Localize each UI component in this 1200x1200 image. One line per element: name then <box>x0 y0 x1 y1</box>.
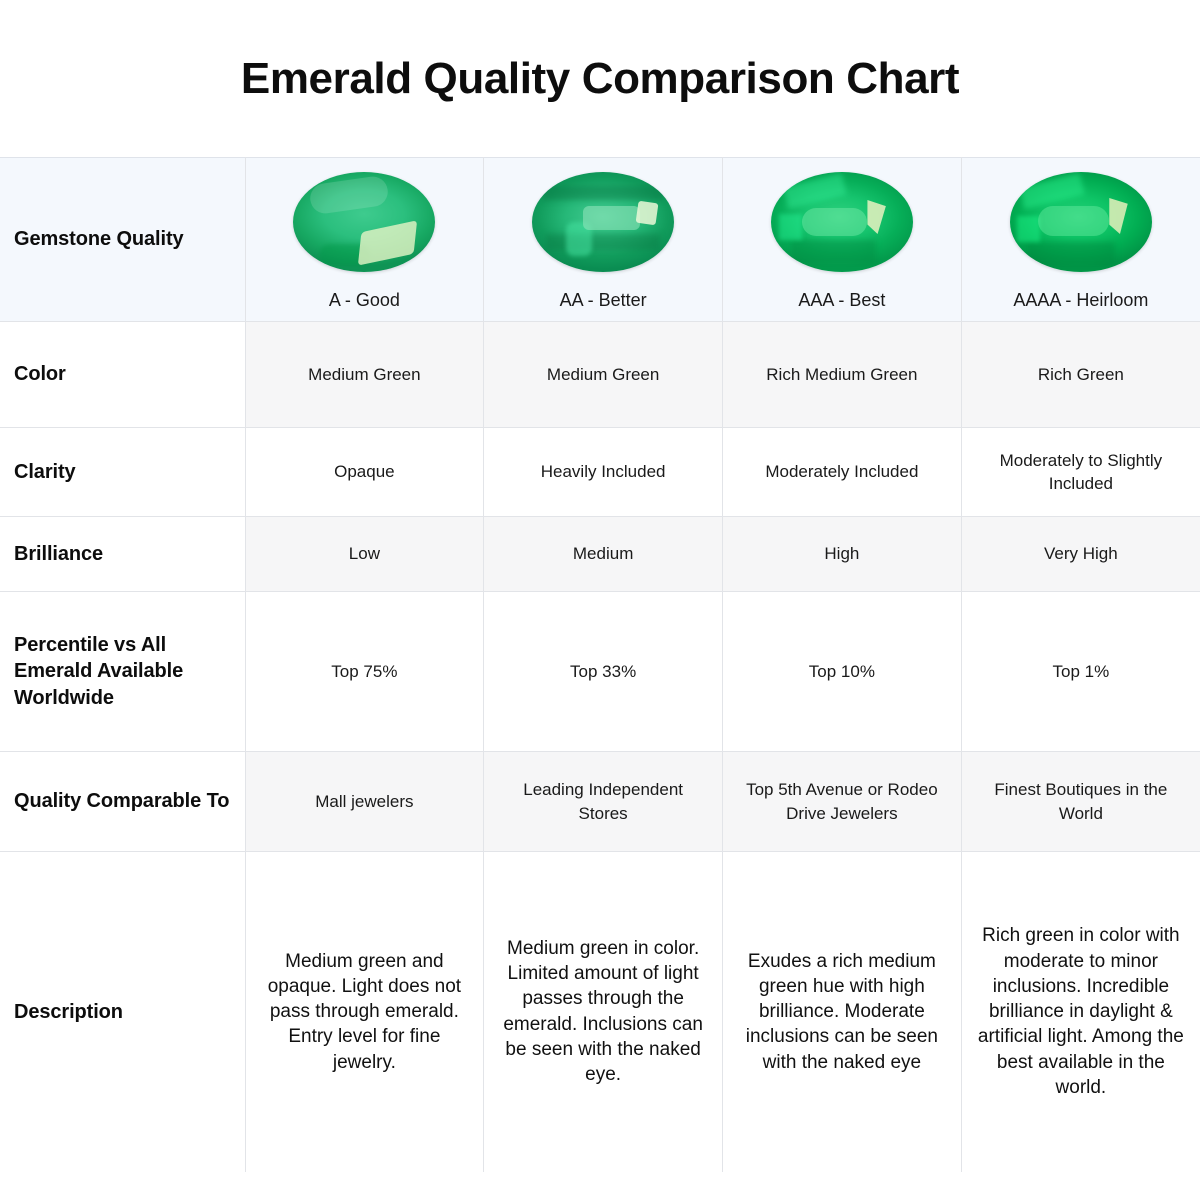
table-row-color: Color Medium Green Medium Green Rich Med… <box>0 322 1200 428</box>
grade-cell-aaaa: AAAA - Heirloom <box>961 158 1200 322</box>
cell-brilliance-aaa: High <box>723 517 962 592</box>
cell-description-a: Medium green and opaque. Light does not … <box>245 852 484 1172</box>
row-label-color: Color <box>0 322 245 428</box>
cell-brilliance-aaaa: Very High <box>961 517 1200 592</box>
cell-description-aaa: Exudes a rich medium green hue with high… <box>723 852 962 1172</box>
emerald-oval-gem-aaa-icon <box>771 172 913 272</box>
cell-comparable-aaaa: Finest Boutiques in the World <box>961 752 1200 852</box>
row-label-clarity: Clarity <box>0 428 245 517</box>
table-row-brilliance: Brilliance Low Medium High Very High <box>0 517 1200 592</box>
cell-clarity-aa: Heavily Included <box>484 428 723 517</box>
table-row-gemstone-quality: Gemstone Quality A - Good AA - B <box>0 158 1200 322</box>
cell-comparable-aaa: Top 5th Avenue or Rodeo Drive Jewelers <box>723 752 962 852</box>
cell-comparable-a: Mall jewelers <box>245 752 484 852</box>
cell-description-aaaa: Rich green in color with moderate to min… <box>961 852 1200 1172</box>
grade-cell-aaa: AAA - Best <box>723 158 962 322</box>
cell-clarity-aaaa: Moderately to Slightly Included <box>961 428 1200 517</box>
cell-comparable-aa: Leading Independent Stores <box>484 752 723 852</box>
cell-color-a: Medium Green <box>245 322 484 428</box>
cell-percentile-a: Top 75% <box>245 592 484 752</box>
table-row-percentile: Percentile vs All Emerald Available Worl… <box>0 592 1200 752</box>
comparison-chart-page: Emerald Quality Comparison Chart Gemston… <box>0 0 1200 1200</box>
table-row-description: Description Medium green and opaque. Lig… <box>0 852 1200 1172</box>
table-row-comparable: Quality Comparable To Mall jewelers Lead… <box>0 752 1200 852</box>
emerald-oval-gem-aa-icon <box>532 172 674 272</box>
cell-color-aa: Medium Green <box>484 322 723 428</box>
cell-brilliance-aa: Medium <box>484 517 723 592</box>
row-label-percentile: Percentile vs All Emerald Available Worl… <box>0 592 245 752</box>
grade-label-aaa: AAA - Best <box>798 290 885 311</box>
row-label-brilliance: Brilliance <box>0 517 245 592</box>
grade-label-a: A - Good <box>329 290 400 311</box>
row-label-comparable: Quality Comparable To <box>0 752 245 852</box>
cell-color-aaaa: Rich Green <box>961 322 1200 428</box>
emerald-oval-gem-a-icon <box>293 172 435 272</box>
cell-percentile-aa: Top 33% <box>484 592 723 752</box>
page-title: Emerald Quality Comparison Chart <box>241 54 959 104</box>
cell-clarity-aaa: Moderately Included <box>723 428 962 517</box>
table-row-clarity: Clarity Opaque Heavily Included Moderate… <box>0 428 1200 517</box>
title-bar: Emerald Quality Comparison Chart <box>0 0 1200 157</box>
cell-clarity-a: Opaque <box>245 428 484 517</box>
grade-cell-aa: AA - Better <box>484 158 723 322</box>
grade-cell-a: A - Good <box>245 158 484 322</box>
emerald-oval-gem-aaaa-icon <box>1010 172 1152 272</box>
grade-label-aa: AA - Better <box>560 290 647 311</box>
grade-label-aaaa: AAAA - Heirloom <box>1013 290 1148 311</box>
cell-brilliance-a: Low <box>245 517 484 592</box>
emerald-quality-comparison-table: Gemstone Quality A - Good AA - B <box>0 157 1200 1172</box>
cell-percentile-aaa: Top 10% <box>723 592 962 752</box>
row-label-gemstone-quality: Gemstone Quality <box>0 158 245 322</box>
cell-description-aa: Medium green in color. Limited amount of… <box>484 852 723 1172</box>
row-label-description: Description <box>0 852 245 1172</box>
cell-percentile-aaaa: Top 1% <box>961 592 1200 752</box>
cell-color-aaa: Rich Medium Green <box>723 322 962 428</box>
